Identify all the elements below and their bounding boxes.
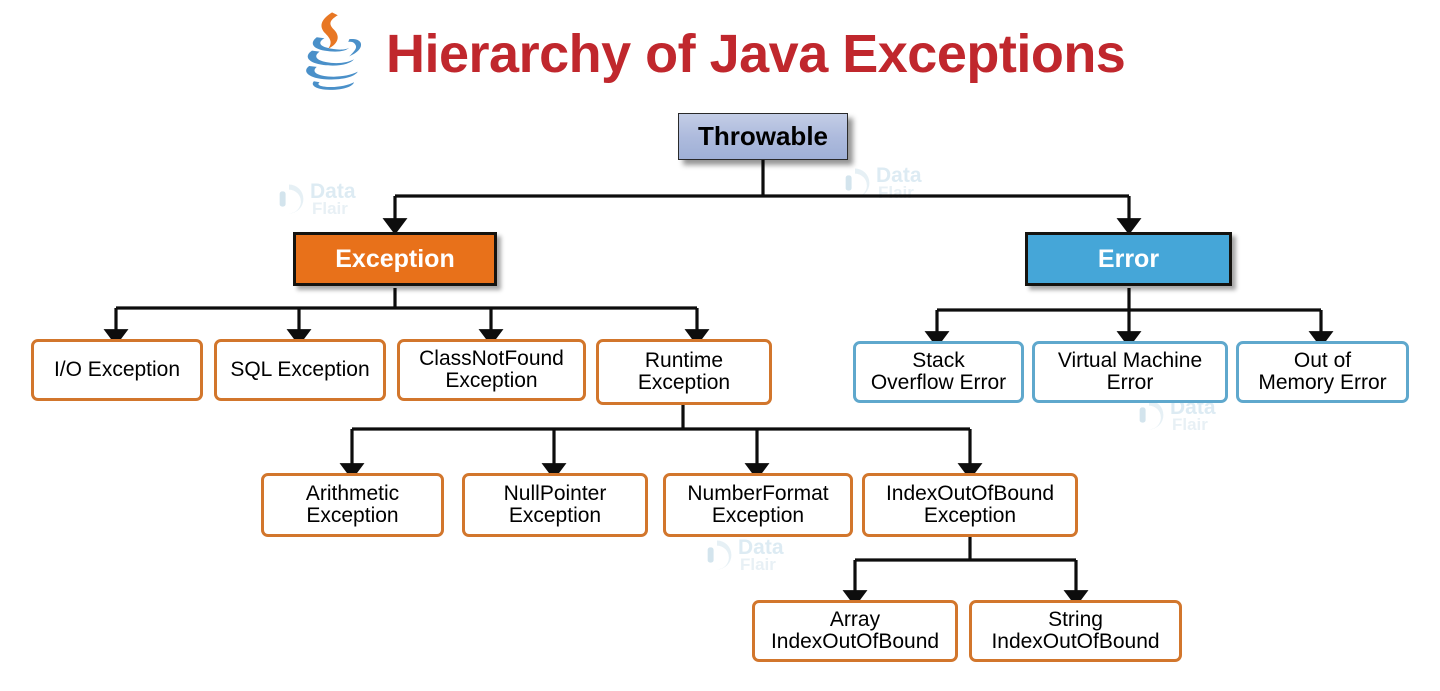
- watermark-line1: Data: [876, 166, 922, 185]
- dataflair-logo-icon: [838, 166, 872, 200]
- node-string-indexoutofbound[interactable]: String IndexOutOfBound: [969, 600, 1182, 662]
- watermark-dataflair: Data Flair: [838, 166, 922, 201]
- watermark-line1: Data: [310, 182, 356, 201]
- watermark-line2: Flair: [878, 185, 922, 201]
- watermark-line2: Flair: [1172, 417, 1216, 433]
- page-title-text: Hierarchy of Java Exceptions: [386, 27, 1125, 81]
- node-exception[interactable]: Exception: [293, 232, 497, 286]
- node-stack-overflow-error[interactable]: Stack Overflow Error: [853, 341, 1024, 403]
- dataflair-logo-icon: [1132, 398, 1166, 432]
- node-throwable[interactable]: Throwable: [678, 113, 848, 160]
- node-error[interactable]: Error: [1025, 232, 1232, 286]
- node-runtime-exception[interactable]: Runtime Exception: [596, 339, 772, 405]
- node-out-of-memory-error[interactable]: Out of Memory Error: [1236, 341, 1409, 403]
- node-sql-exception[interactable]: SQL Exception: [214, 339, 386, 401]
- node-virtual-machine-error[interactable]: Virtual Machine Error: [1032, 341, 1228, 403]
- watermark-dataflair: Data Flair: [700, 538, 784, 573]
- dataflair-logo-icon: [700, 538, 734, 572]
- dataflair-logo-icon: [272, 182, 306, 216]
- watermark-dataflair: Data Flair: [1132, 398, 1216, 433]
- watermark-line2: Flair: [312, 201, 356, 217]
- node-io-exception[interactable]: I/O Exception: [31, 339, 203, 401]
- watermark-dataflair: Data Flair: [272, 182, 356, 217]
- node-classnotfound-exception[interactable]: ClassNotFound Exception: [397, 339, 586, 401]
- node-arithmetic-exception[interactable]: Arithmetic Exception: [261, 473, 444, 537]
- node-indexoutofbound-exception[interactable]: IndexOutOfBound Exception: [862, 473, 1078, 537]
- watermark-line2: Flair: [740, 557, 784, 573]
- node-numberformat-exception[interactable]: NumberFormat Exception: [663, 473, 853, 537]
- watermark-line1: Data: [738, 538, 784, 557]
- node-array-indexoutofbound[interactable]: Array IndexOutOfBound: [752, 600, 958, 662]
- node-nullpointer-exception[interactable]: NullPointer Exception: [462, 473, 648, 537]
- diagram-canvas: Data Flair Data Flair Data Flair Data: [0, 0, 1440, 691]
- page-title: Hierarchy of Java Exceptions: [290, 8, 1125, 100]
- java-logo-icon: [290, 8, 376, 100]
